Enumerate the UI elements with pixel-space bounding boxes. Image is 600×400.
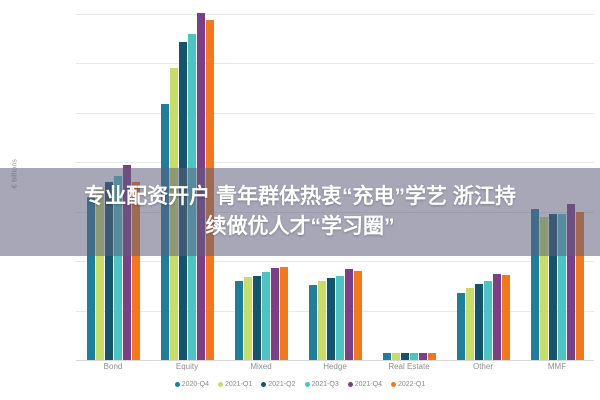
chart-screenshot: € billions 0bn200bn400bn600bn800bn1,000b…	[0, 0, 600, 400]
x-axis-labels: BondEquityMixedHedgeReal EstateOtherMMF	[76, 362, 594, 371]
legend-label: 2020-Q4	[182, 381, 209, 388]
legend-dot-icon	[391, 382, 396, 387]
legend-dot-icon	[218, 382, 223, 387]
bar[interactable]	[493, 274, 501, 360]
legend-dot-icon	[261, 382, 266, 387]
bar[interactable]	[475, 284, 483, 360]
legend-label: 2021-Q2	[268, 381, 295, 388]
legend-label: 2022-Q1	[398, 381, 425, 388]
legend-item[interactable]: 2020-Q4	[175, 381, 209, 388]
legend-item[interactable]: 2021-Q1	[218, 381, 252, 388]
bar[interactable]	[253, 276, 261, 360]
x-axis-tick-label: Equity	[150, 362, 224, 371]
legend-item[interactable]: 2022-Q1	[391, 381, 425, 388]
bar[interactable]	[345, 269, 353, 360]
bar[interactable]	[235, 281, 243, 360]
legend-item[interactable]: 2021-Q3	[305, 381, 339, 388]
text-overlay-banner: 专业配资开户 青年群体热衷“充电”学艺 浙江持 续做优人才“学习圈”	[0, 168, 600, 256]
bar[interactable]	[410, 353, 418, 360]
x-axis-tick-label: MMF	[520, 362, 594, 371]
legend-item[interactable]: 2021-Q4	[348, 381, 382, 388]
bar[interactable]	[383, 353, 391, 360]
bar[interactable]	[502, 275, 510, 360]
gridline: 0bn	[76, 360, 594, 361]
bar[interactable]	[280, 267, 288, 360]
bar[interactable]	[271, 268, 279, 360]
chart-legend: 2020-Q42021-Q12021-Q22021-Q32021-Q42022-…	[0, 381, 600, 388]
legend-dot-icon	[348, 382, 353, 387]
bar[interactable]	[318, 281, 326, 360]
bar[interactable]	[401, 353, 409, 360]
bar[interactable]	[466, 288, 474, 360]
bar[interactable]	[419, 353, 427, 360]
legend-label: 2021-Q1	[225, 381, 252, 388]
legend-label: 2021-Q4	[355, 381, 382, 388]
bar[interactable]	[309, 285, 317, 360]
bar[interactable]	[484, 281, 492, 360]
legend-dot-icon	[305, 382, 310, 387]
bar[interactable]	[392, 353, 400, 360]
bar[interactable]	[244, 277, 252, 360]
x-axis-tick-label: Mixed	[224, 362, 298, 371]
x-axis-tick-label: Other	[446, 362, 520, 371]
legend-item[interactable]: 2021-Q2	[261, 381, 295, 388]
bar[interactable]	[336, 276, 344, 360]
bar[interactable]	[457, 293, 465, 360]
bar[interactable]	[327, 278, 335, 360]
bar[interactable]	[428, 353, 436, 360]
overlay-headline-line-1: 专业配资开户 青年群体热衷“充电”学艺 浙江持	[84, 184, 516, 210]
bar[interactable]	[354, 271, 362, 360]
legend-dot-icon	[175, 382, 180, 387]
x-axis-tick-label: Bond	[76, 362, 150, 371]
bar[interactable]	[262, 272, 270, 360]
overlay-headline-line-2: 续做优人才“学习圈”	[206, 214, 395, 240]
x-axis-tick-label: Real Estate	[372, 362, 446, 371]
x-axis-tick-label: Hedge	[298, 362, 372, 371]
legend-label: 2021-Q3	[312, 381, 339, 388]
